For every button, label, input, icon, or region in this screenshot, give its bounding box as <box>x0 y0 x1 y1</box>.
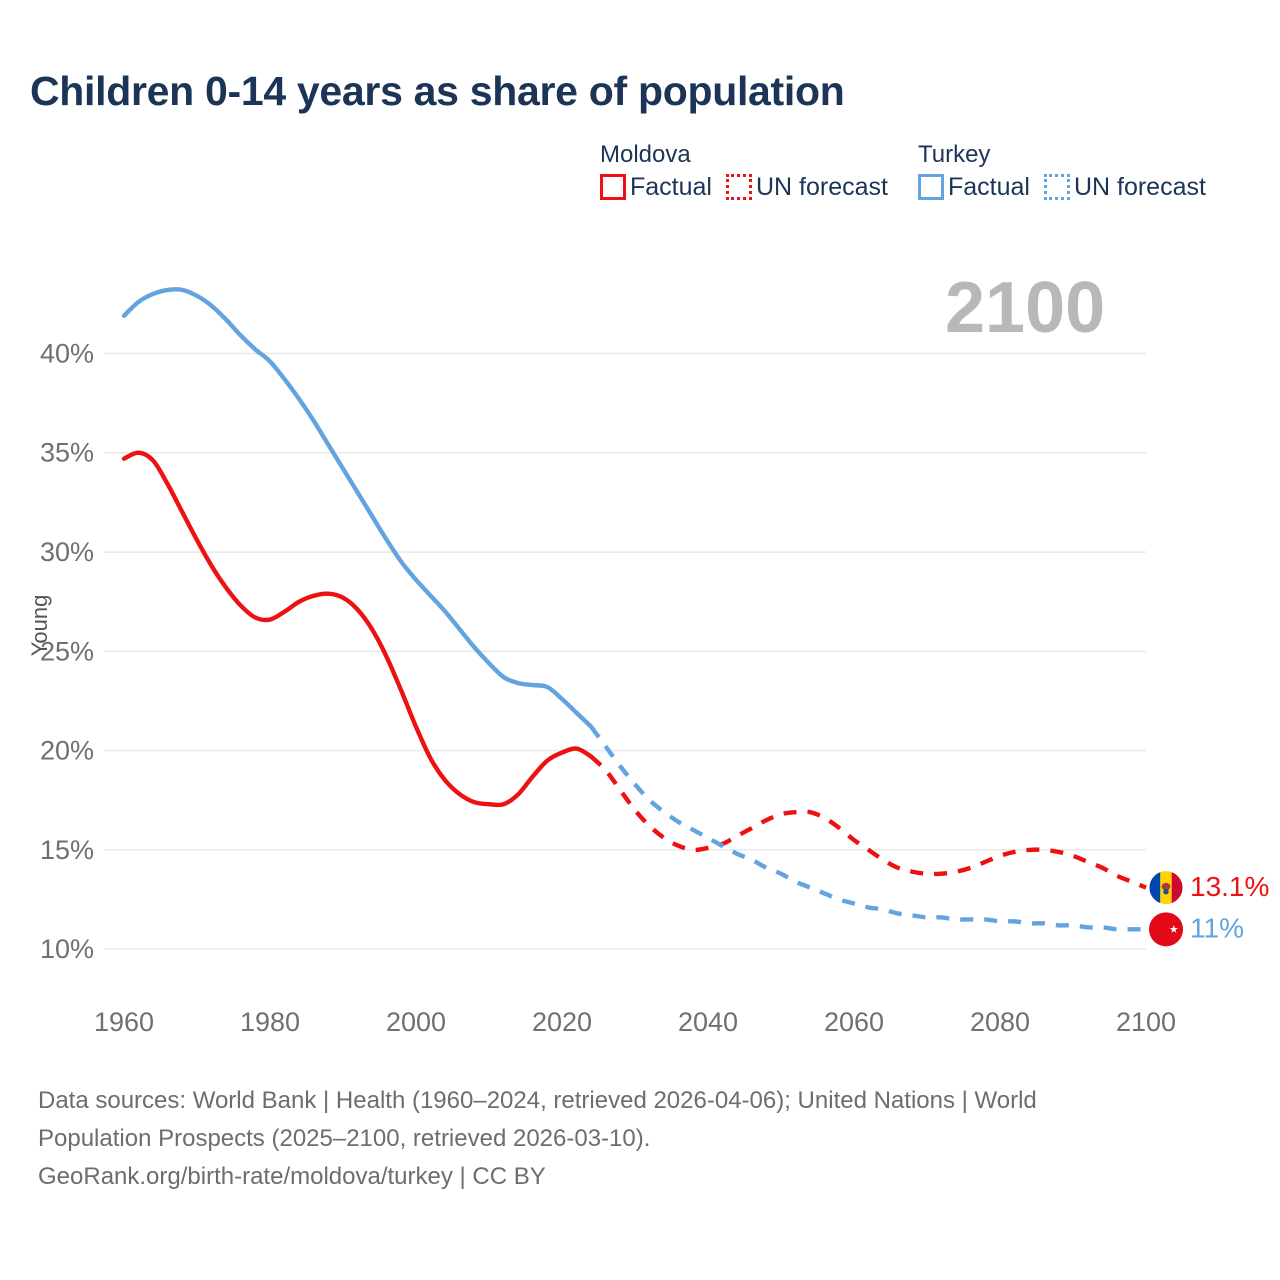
y-tick-label: 15% <box>40 835 94 865</box>
series-line-moldova-forecast <box>591 757 1146 888</box>
moldova-flag-icon <box>1149 871 1183 905</box>
y-tick-label: 40% <box>40 338 94 368</box>
footer-line[interactable]: GeoRank.org/birth-rate/moldova/turkey | … <box>38 1158 1238 1196</box>
y-tick-label: 20% <box>40 736 94 766</box>
y-tick-label: 35% <box>40 438 94 468</box>
x-tick-label: 2060 <box>824 1007 884 1037</box>
y-axis-title-label: Young <box>27 595 52 657</box>
series-line-turkey-forecast <box>591 727 1146 930</box>
x-tick-label: 2040 <box>678 1007 738 1037</box>
turkey-flag-icon <box>1149 912 1183 946</box>
chart-page: Children 0-14 years as share of populati… <box>0 0 1280 1280</box>
footer-line: Data sources: World Bank | Health (1960–… <box>38 1082 1238 1120</box>
y-tick-label: 10% <box>40 934 94 964</box>
y-tick-label: 30% <box>40 537 94 567</box>
series-end-markers: 13.1%11% <box>1149 871 1269 947</box>
x-tick-label: 2080 <box>970 1007 1030 1037</box>
footer-line: Population Prospects (2025–2100, retriev… <box>38 1120 1238 1158</box>
x-axis-tick-labels: 19601980200020202040206020802100 <box>94 1007 1176 1037</box>
x-tick-label: 1960 <box>94 1007 154 1037</box>
series-line-moldova-factual <box>124 453 591 805</box>
end-label-moldova: 13.1% <box>1190 871 1269 902</box>
footer: Data sources: World Bank | Health (1960–… <box>38 1082 1238 1196</box>
x-tick-label: 2020 <box>532 1007 592 1037</box>
x-tick-label: 2000 <box>386 1007 446 1037</box>
end-label-turkey: 11% <box>1190 913 1244 944</box>
x-tick-label: 2100 <box>1116 1007 1176 1037</box>
series-line-turkey-factual <box>124 289 591 726</box>
chart-plot-area: 10%15%20%25%30%35%40% 196019802000202020… <box>0 0 1280 1060</box>
y-axis-title: Young <box>27 595 52 657</box>
x-tick-label: 1980 <box>240 1007 300 1037</box>
data-series <box>124 289 1146 929</box>
